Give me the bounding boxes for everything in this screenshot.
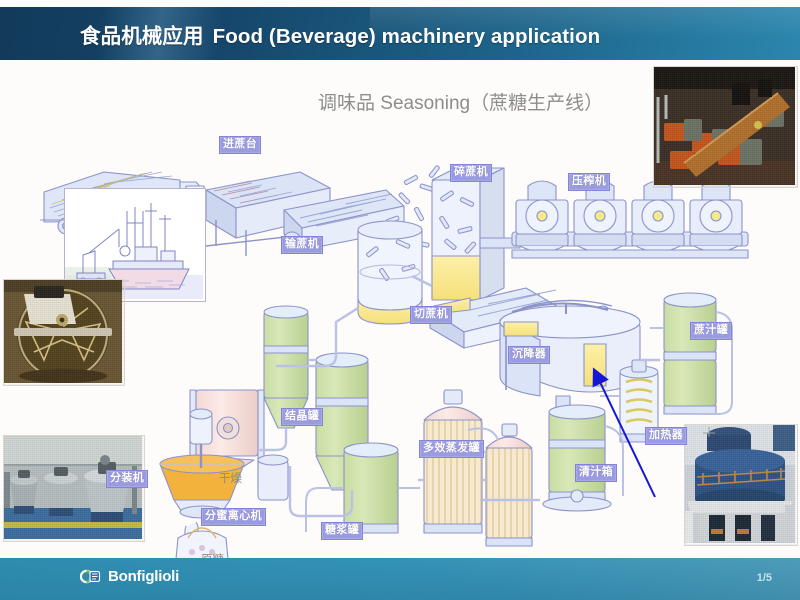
label-cane-shredder: 碎蔗机 xyxy=(450,164,492,182)
evaporator-1 xyxy=(424,390,482,533)
slide: 食品机械应用Food (Beverage) machinery applicat… xyxy=(0,0,800,600)
label-centrifugal: 分蜜离心机 xyxy=(201,508,266,526)
brand-name: Bonfiglioli xyxy=(108,568,179,585)
juice-tanks-art xyxy=(650,293,732,414)
mill-house-photo xyxy=(653,66,798,188)
label-cane-cutter: 切蔗机 xyxy=(410,306,452,324)
page-number: 1/5 xyxy=(757,572,772,584)
label-cane-feed-table: 进蔗台 xyxy=(219,136,261,154)
evaporator-2 xyxy=(486,424,532,546)
brand-logo: Bonfiglioli xyxy=(80,568,179,585)
label-juice-tank: 蔗汁罐 xyxy=(690,322,732,340)
mill-tandem-art xyxy=(512,181,748,258)
label-heater: 加热器 xyxy=(645,427,687,445)
centrifuge-line-photo xyxy=(3,435,145,542)
label-clarifier: 沉降器 xyxy=(508,346,550,364)
label-mill-tandem: 压榨机 xyxy=(568,173,610,191)
label-clear-juice-tank: 清汁箱 xyxy=(575,464,617,482)
label-syrup-tank: 糖浆罐 xyxy=(321,522,363,540)
bonfiglioli-mark-icon xyxy=(80,569,102,584)
slide-title-bar: 食品机械应用Food (Beverage) machinery applicat… xyxy=(0,7,800,60)
label-dryer: 干燥 xyxy=(219,470,242,486)
label-crystallizer: 结晶罐 xyxy=(281,408,323,426)
slide-content: 调味品 Seasoning（蔗糖生产线） xyxy=(0,60,800,558)
slide-footer: Bonfiglioli 1/5 xyxy=(0,558,800,600)
centrifuge-basket-photo xyxy=(3,279,125,386)
page-title-en: Food (Beverage) machinery application xyxy=(213,25,601,48)
label-evaporators: 多效蒸发罐 xyxy=(419,440,484,458)
multiple-effect-evaporators-art xyxy=(424,390,532,546)
clear-juice-tank-art xyxy=(543,405,623,511)
label-packing-machine: 分装机 xyxy=(106,470,148,488)
cooling-tower-photo xyxy=(684,424,798,546)
page-title: 食品机械应用Food (Beverage) machinery applicat… xyxy=(80,19,600,49)
page-title-cn: 食品机械应用 xyxy=(80,25,204,48)
label-cane-conveyor: 输蔗机 xyxy=(281,236,323,254)
